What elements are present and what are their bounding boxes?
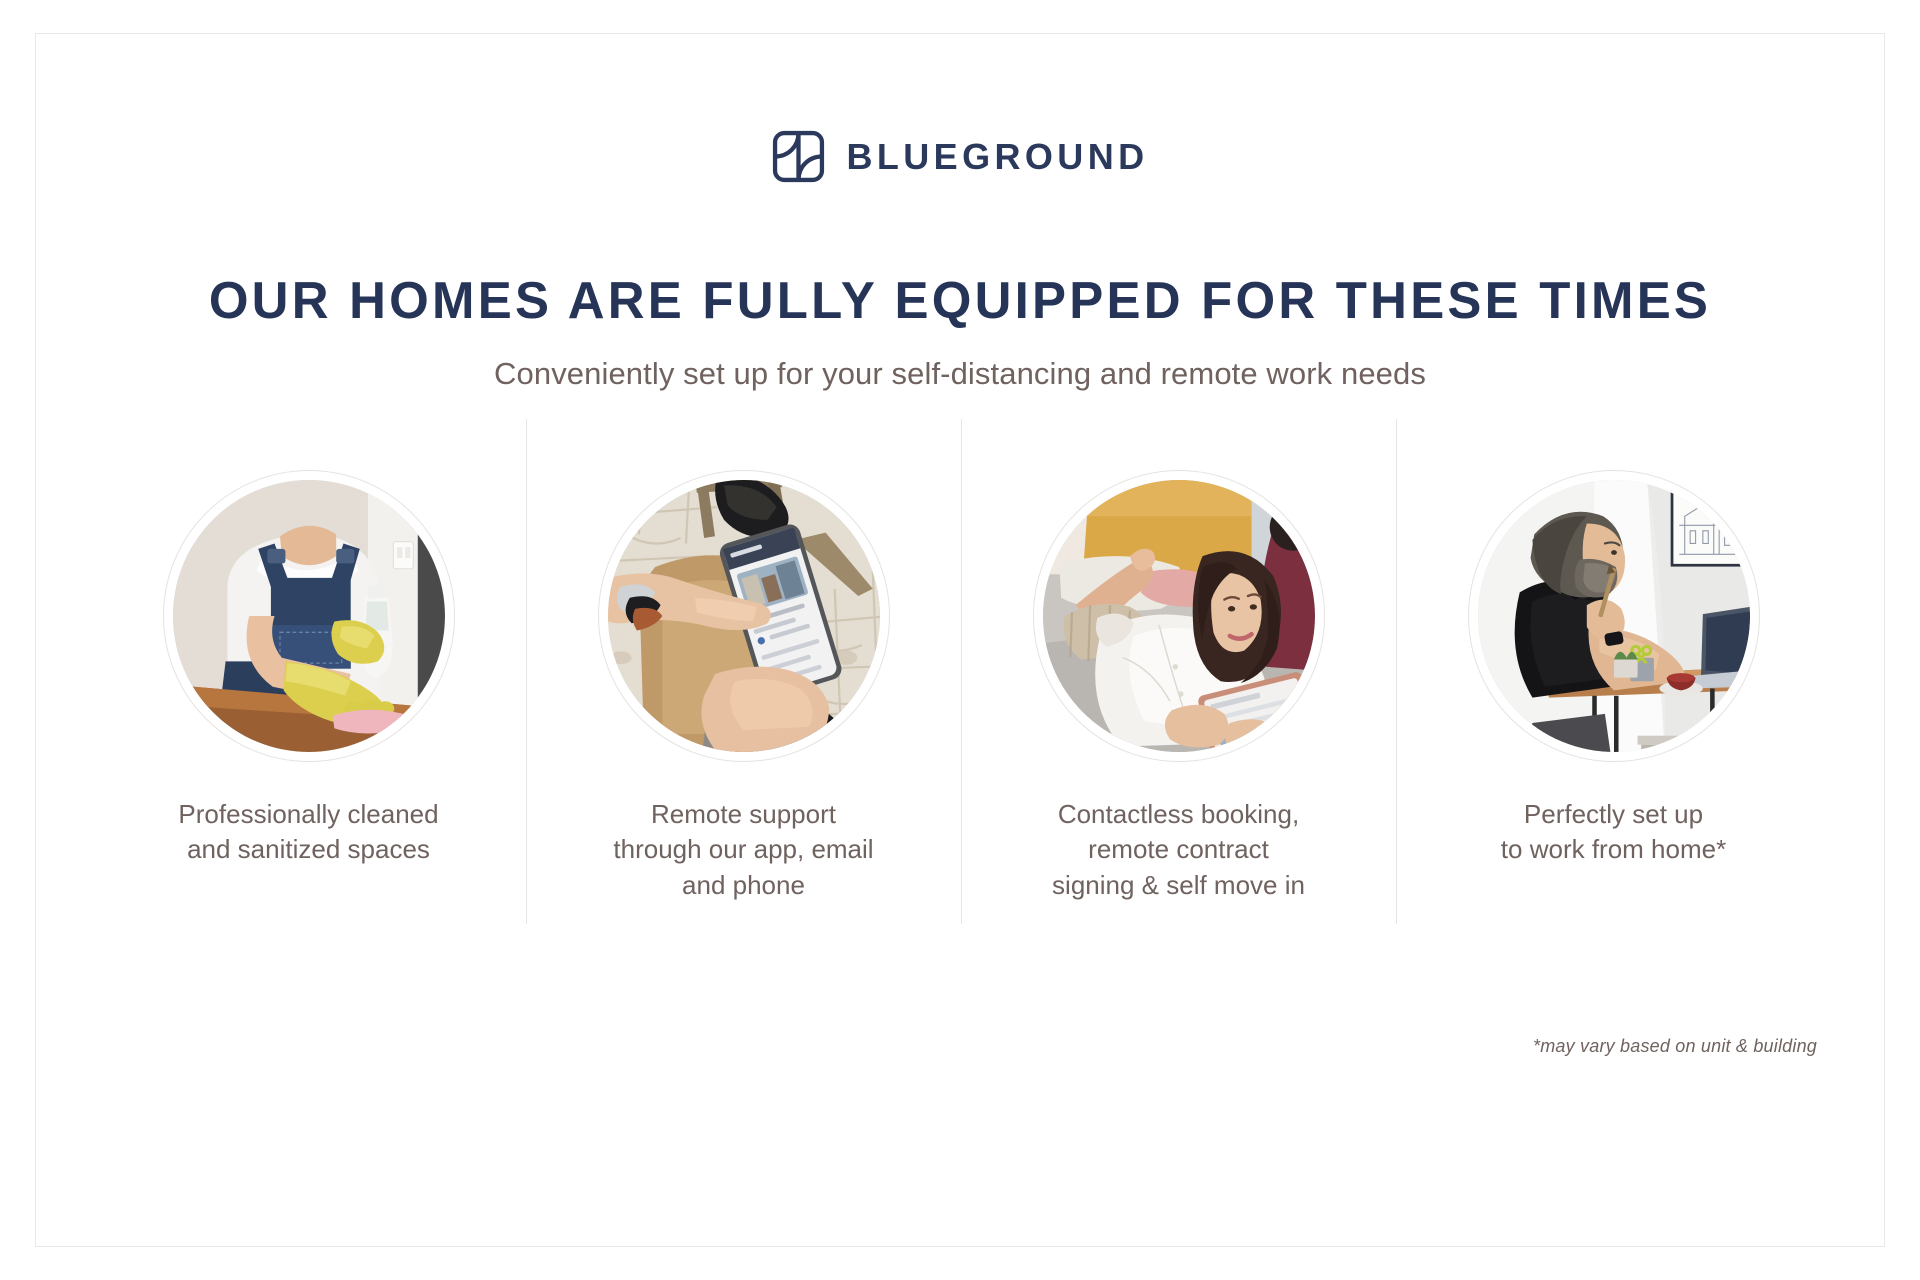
avatar-ring-1 [163, 470, 455, 762]
avatar-ring-4 [1468, 470, 1760, 762]
feature-column-work-from-home: Perfectly set up to work from home* [1396, 419, 1831, 924]
feature-caption: Perfectly set up to work from home* [1501, 797, 1726, 868]
tablet-booking-photo [1043, 480, 1315, 752]
brand-logo: BLUEGROUND [36, 130, 1884, 183]
footnote-disclaimer: *may vary based on unit & building [1533, 1036, 1817, 1057]
brand-wordmark: BLUEGROUND [847, 139, 1149, 175]
feature-column-cleaning: Professionally cleaned and sanitized spa… [91, 419, 526, 924]
blueground-square-logo-icon [772, 130, 825, 183]
page-title: OUR HOMES ARE FULLY EQUIPPED FOR THESE T… [54, 274, 1865, 329]
feature-caption: Professionally cleaned and sanitized spa… [178, 797, 438, 868]
feature-columns: Professionally cleaned and sanitized spa… [91, 419, 1831, 924]
feature-column-remote-support: Remote support through our app, email an… [526, 419, 961, 924]
feature-column-contactless-booking: Contactless booking, remote contract sig… [961, 419, 1396, 924]
feature-caption: Remote support through our app, email an… [613, 797, 873, 903]
cleaning-person-photo [173, 480, 445, 752]
phone-app-photo [608, 480, 880, 752]
work-from-home-photo [1478, 480, 1750, 752]
infographic-card: BLUEGROUND OUR HOMES ARE FULLY EQUIPPED … [35, 33, 1885, 1247]
avatar-ring-2 [598, 470, 890, 762]
feature-caption: Contactless booking, remote contract sig… [1052, 797, 1305, 903]
avatar-ring-3 [1033, 470, 1325, 762]
page-subtitle: Conveniently set up for your self-distan… [36, 354, 1884, 394]
